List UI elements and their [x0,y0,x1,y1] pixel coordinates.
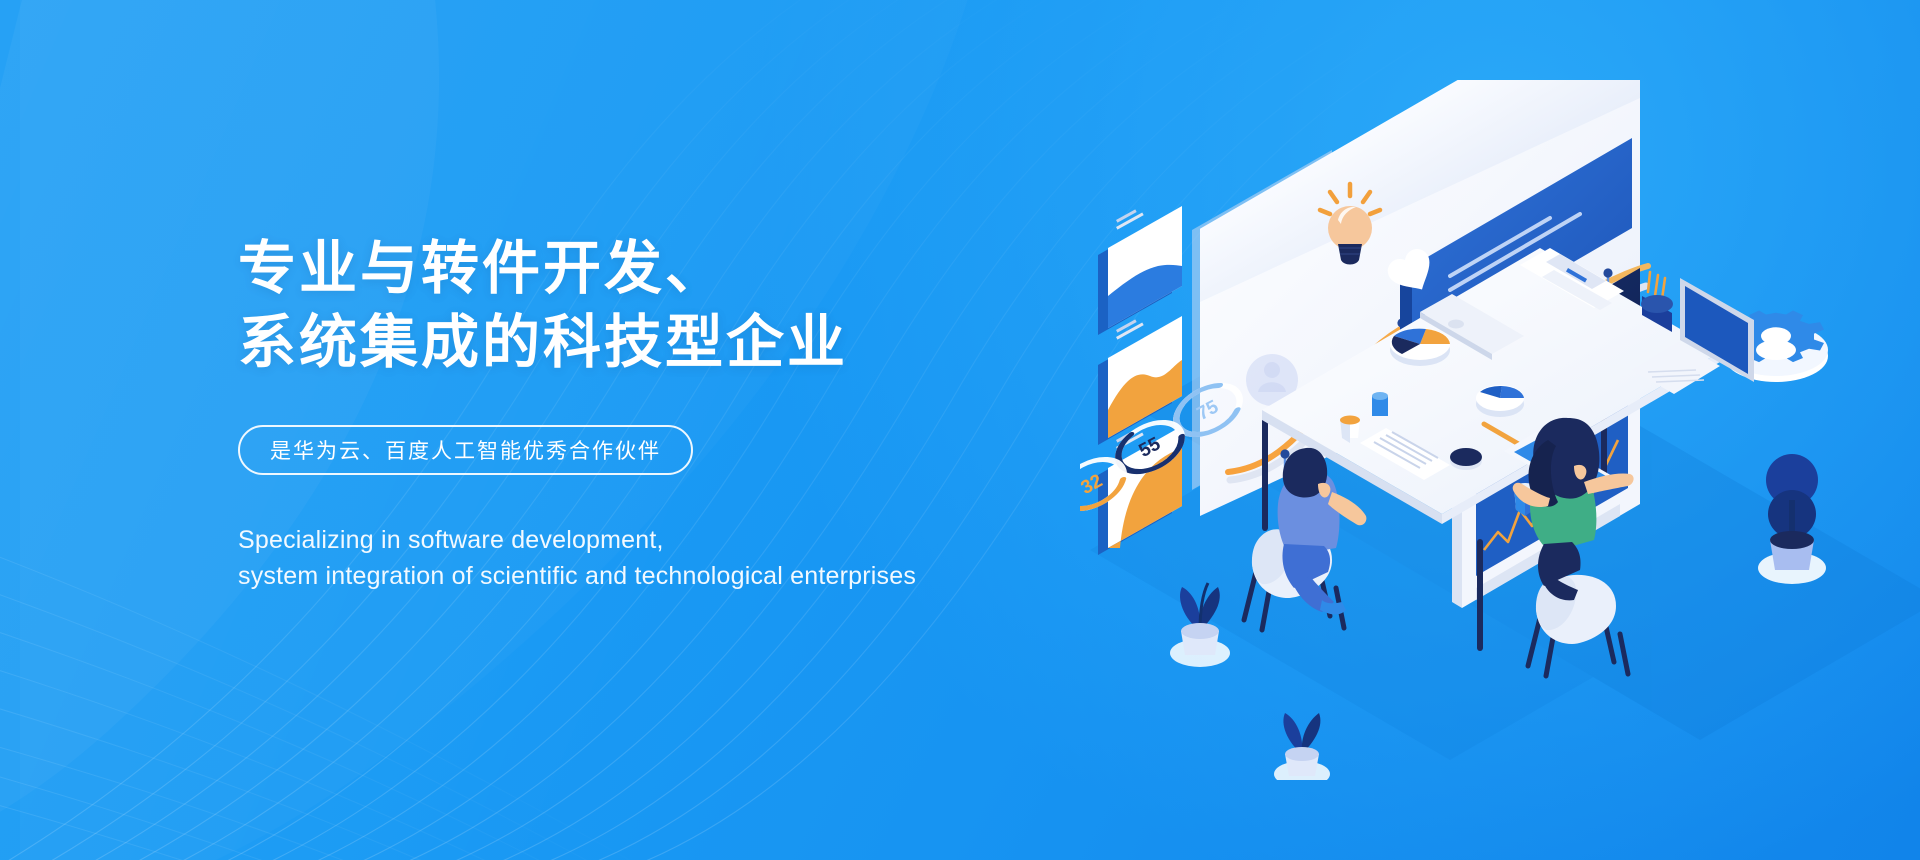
headline-line-1: 专业与转件开发、 [238,236,726,301]
pie-chart [1476,385,1524,417]
partner-badge-label: 是华为云、百度人工智能优秀合作伙伴 [270,435,661,465]
subtitle: Specializing in software development, sy… [238,523,1138,594]
subtitle-line-1: Specializing in software development, [238,523,1138,559]
pie-chart [1390,328,1450,366]
small-dish [1450,448,1482,470]
partner-badge[interactable]: 是华为云、百度人工智能优秀合作伙伴 [238,425,693,475]
headline-line-2: 系统集成的科技型企业 [238,306,1138,380]
hero-illustration: 65 123 97 81 [1080,80,1920,780]
mini-card [1098,206,1182,335]
plant-small [1274,713,1330,780]
hero-banner: 专业与转件开发、 系统集成的科技型企业 是华为云、百度人工智能优秀合作伙伴 Sp… [0,0,1920,860]
mini-chart-cards [1098,206,1182,555]
hero-copy: 专业与转件开发、 系统集成的科技型企业 是华为云、百度人工智能优秀合作伙伴 Sp… [238,232,1138,594]
page-title: 专业与转件开发、 系统集成的科技型企业 [238,232,1138,380]
subtitle-line-2: system integration of scientific and tec… [238,559,1138,595]
jar [1372,392,1388,416]
